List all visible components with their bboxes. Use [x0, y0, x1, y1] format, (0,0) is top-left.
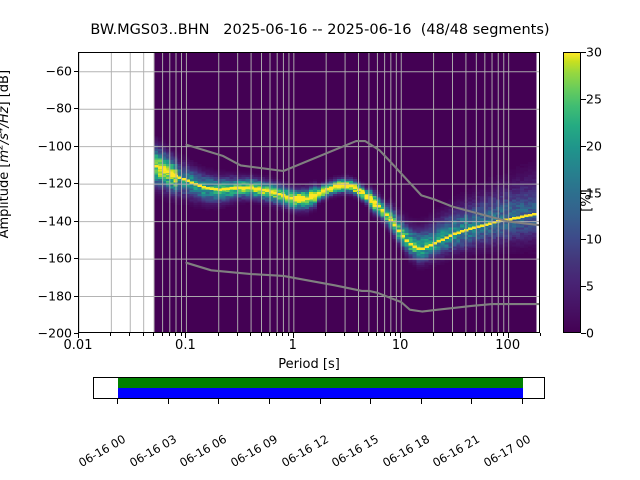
colorbar-tick-mark [581, 286, 586, 287]
x-tick-mark [169, 333, 170, 336]
x-tick-label: 100 [495, 338, 520, 353]
x-axis-label: Period [s] [78, 357, 540, 372]
coverage-tick-mark [522, 399, 523, 404]
y-tick-mark [74, 258, 79, 259]
coverage-tick-label: 06-17 00 [481, 432, 533, 470]
x-tick-mark [358, 333, 359, 336]
x-tick-mark [129, 333, 130, 336]
x-tick-mark [78, 333, 79, 338]
y-tick-mark [74, 146, 79, 147]
coverage-tick-label: 06-16 06 [177, 432, 229, 470]
colorbar-tick-label: 30 [586, 45, 602, 60]
page-title: BW.MGS03..BHN 2025-06-16 -- 2025-06-16 (… [0, 22, 640, 38]
x-tick-mark [484, 333, 485, 336]
coverage-tick-label: 06-16 12 [279, 432, 331, 470]
x-tick-mark [143, 333, 144, 336]
y-tick-label: −100 [6, 138, 72, 153]
x-tick-mark [218, 333, 219, 336]
x-tick-mark [325, 333, 326, 336]
x-tick-mark [497, 333, 498, 336]
colorbar-tick-label: 25 [586, 91, 602, 106]
coverage-tick-label: 06-16 15 [329, 432, 381, 470]
x-tick-mark [276, 333, 277, 336]
x-tick-mark [269, 333, 270, 336]
x-tick-mark [237, 333, 238, 336]
x-tick-mark [540, 333, 541, 336]
x-tick-mark [293, 333, 294, 338]
x-tick-mark [384, 333, 385, 336]
colorbar-tick-label: 10 [586, 232, 602, 247]
colorbar-tick-mark [581, 333, 586, 334]
coverage-tick-mark [218, 399, 219, 404]
x-tick-mark [452, 333, 453, 336]
colorbar-tick-label: 20 [586, 138, 602, 153]
x-tick-label: 1 [289, 338, 297, 353]
x-tick-label: 0.1 [175, 338, 196, 353]
x-tick-label: 10 [392, 338, 409, 353]
coverage-bar-green [118, 378, 523, 388]
coverage-bar-blue [118, 388, 523, 398]
coverage-tick-mark [269, 399, 270, 404]
ppsd-axes[interactable] [78, 52, 540, 333]
coverage-tick-label: 06-16 09 [228, 432, 280, 470]
colorbar [563, 52, 581, 333]
coverage-tick-mark [117, 399, 118, 404]
x-tick-mark [110, 333, 111, 336]
y-tick-label: −160 [6, 251, 72, 266]
x-tick-mark [508, 333, 509, 338]
coverage-tick-mark [421, 399, 422, 404]
x-tick-mark [433, 333, 434, 336]
colorbar-label: [%] [580, 171, 595, 231]
y-tick-mark [74, 221, 79, 222]
coverage-tick-mark [471, 399, 472, 404]
x-tick-mark [162, 333, 163, 336]
colorbar-tick-mark [581, 99, 586, 100]
x-tick-mark [282, 333, 283, 336]
x-tick-mark [175, 333, 176, 336]
data-coverage-axes[interactable] [93, 377, 545, 399]
x-tick-mark [465, 333, 466, 336]
coverage-tick-label: 06-16 21 [430, 432, 482, 470]
y-tick-label: −180 [6, 288, 72, 303]
colorbar-tick-mark [581, 52, 586, 53]
y-tick-mark [74, 296, 79, 297]
y-tick-label: −80 [6, 101, 72, 116]
y-tick-mark [74, 108, 79, 109]
y-tick-label: −120 [6, 176, 72, 191]
x-tick-mark [288, 333, 289, 336]
x-tick-label: 0.01 [64, 338, 93, 353]
ppsd-density-mesh [79, 53, 540, 333]
x-tick-mark [250, 333, 251, 336]
x-tick-mark [153, 333, 154, 336]
x-tick-mark [376, 333, 377, 336]
coverage-tick-label: 06-16 00 [76, 432, 128, 470]
colorbar-tick-label: 5 [586, 279, 594, 294]
coverage-tick-label: 06-16 03 [127, 432, 179, 470]
x-tick-mark [368, 333, 369, 336]
coverage-tick-mark [168, 399, 169, 404]
colorbar-tick-mark [581, 239, 586, 240]
x-tick-mark [344, 333, 345, 336]
y-tick-mark [74, 183, 79, 184]
colorbar-tick-label: 0 [586, 326, 594, 341]
x-tick-mark [181, 333, 182, 336]
x-tick-mark [503, 333, 504, 336]
x-tick-mark [395, 333, 396, 336]
y-tick-mark [74, 71, 79, 72]
x-tick-mark [491, 333, 492, 336]
colorbar-tick-mark [581, 146, 586, 147]
x-tick-mark [185, 333, 186, 338]
x-tick-mark [475, 333, 476, 336]
y-tick-label: −140 [6, 213, 72, 228]
y-tick-label: −60 [6, 63, 72, 78]
coverage-tick-mark [320, 399, 321, 404]
x-tick-mark [390, 333, 391, 336]
y-axis-label: Amplitude [m2/s4/Hz] [dB] [0, 0, 12, 344]
x-tick-mark [400, 333, 401, 338]
coverage-tick-label: 06-16 18 [380, 432, 432, 470]
x-tick-mark [261, 333, 262, 336]
coverage-tick-mark [370, 399, 371, 404]
y-tick-label: −200 [6, 326, 72, 341]
ppsd-figure: BW.MGS03..BHN 2025-06-16 -- 2025-06-16 (… [0, 0, 640, 480]
